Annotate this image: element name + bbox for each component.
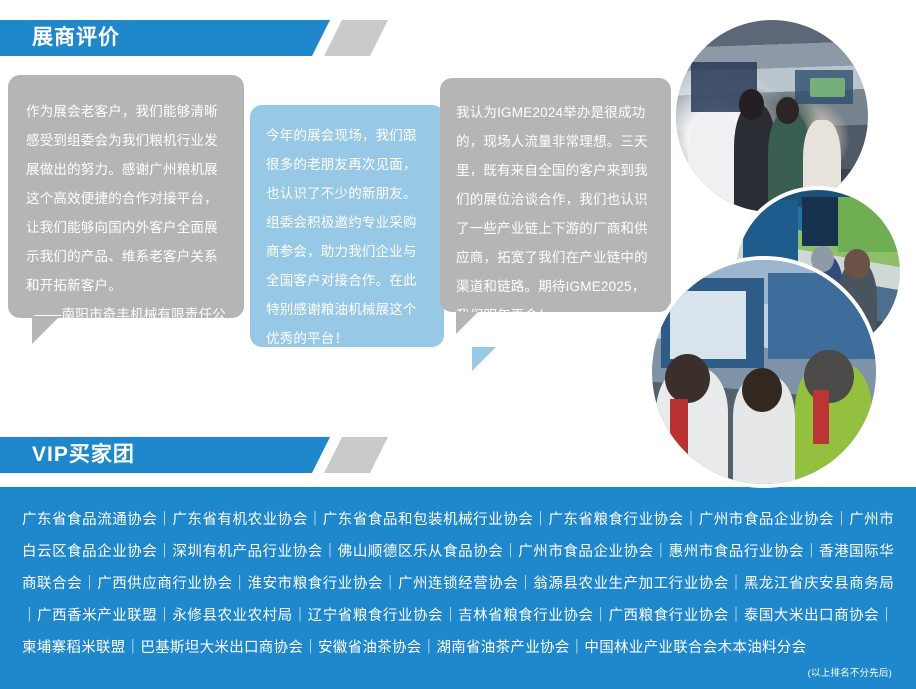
testimonial-attribution: ——安阳市旭邦粮油设备有限公司 xyxy=(456,330,657,388)
bubble-tail xyxy=(32,318,58,344)
section-title-vip-buyers: VIP买家团 xyxy=(32,437,135,473)
section-header-vip-buyers: VIP买家团 xyxy=(0,437,400,473)
testimonial-attribution: ——福建宇杰自动化科技 有限公司 xyxy=(266,353,428,411)
vip-buyers-order-note: (以上排名不分先后) xyxy=(808,665,892,679)
testimonial-bubble-anyang-xubang: 我认为IGME2024举办是很成功的，现场人流量非常理想。三天里，既有来自全国的… xyxy=(440,78,671,312)
exhibition-hall-visitors-photo xyxy=(672,16,872,216)
buyers-inspecting-machinery-photo xyxy=(648,256,880,488)
photo-collage xyxy=(640,8,916,420)
photo-c-image xyxy=(652,260,876,484)
header-gray-accent xyxy=(324,437,388,473)
bubble-tail xyxy=(456,312,478,334)
testimonial-body: 作为展会老客户，我们能够清晰感受到组委会为我们粮机行业发展做出的努力。感谢广州粮… xyxy=(26,97,226,300)
vip-buyers-panel: 广东省食品流通协会｜广东省有机农业协会｜广东省食品和包装机械行业协会｜广东省粮食… xyxy=(0,487,916,689)
exhibition-report-page: 展商评价 作为展会老客户，我们能够清晰感受到组委会为我们粮机行业发展做出的努力。… xyxy=(0,0,916,689)
testimonial-body: 我认为IGME2024举办是很成功的，现场人流量非常理想。三天里，既有来自全国的… xyxy=(456,98,657,330)
header-gray-accent xyxy=(324,20,388,56)
section-header-exhibitor-reviews: 展商评价 xyxy=(0,20,400,56)
vip-buyers-list: 广东省食品流通协会｜广东省有机农业协会｜广东省食品和包装机械行业协会｜广东省粮食… xyxy=(22,504,894,664)
testimonial-bubble-fujian-yujie: 今年的展会现场，我们跟很多的老朋友再次见面，也认识了不少的新朋友。组委会积极邀约… xyxy=(250,105,444,347)
testimonial-body: 今年的展会现场，我们跟很多的老朋友再次见面，也认识了不少的新朋友。组委会积极邀约… xyxy=(266,121,428,353)
photo-a-image xyxy=(676,20,868,212)
section-title-exhibitor-reviews: 展商评价 xyxy=(32,20,120,56)
testimonial-bubble-nanyang-qifeng: 作为展会老客户，我们能够清晰感受到组委会为我们粮机行业发展做出的努力。感谢广州粮… xyxy=(8,75,244,318)
